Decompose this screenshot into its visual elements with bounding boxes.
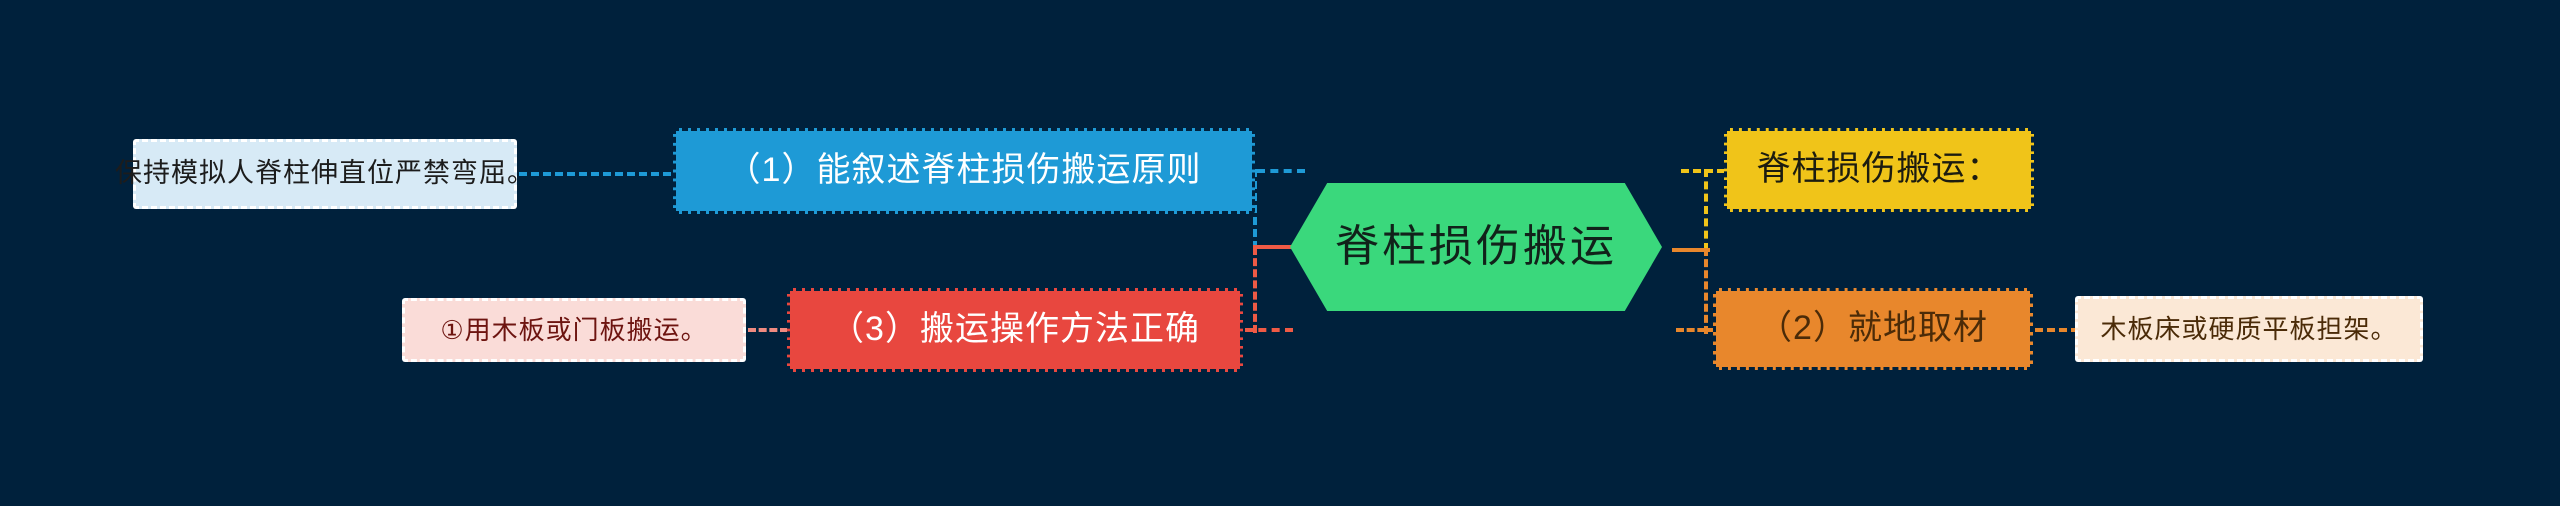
node-label: 脊柱损伤搬运： [1757, 151, 2002, 188]
connector-right-lower-trunk [1704, 248, 1708, 334]
connector-right-upper-trunk [1704, 169, 1708, 251]
connector-note-spine-to-principle [519, 172, 671, 176]
node-topic-correct-operation[interactable]: （3）搬运操作方法正确 [787, 288, 1243, 372]
node-label: 脊柱损伤搬运 [1335, 223, 1617, 271]
node-note-keep-spine-straight[interactable]: 保持模拟人脊柱伸直位严禁弯屈。 [133, 139, 517, 209]
node-topic-transport-heading[interactable]: 脊柱损伤搬运： [1724, 128, 2034, 212]
node-topic-transport-principle[interactable]: （1）能叙述脊柱损伤搬运原则 [673, 128, 1255, 214]
connector-trunk-to-transport-title [1681, 169, 1725, 173]
node-note-hard-board-stretcher[interactable]: 木板床或硬质平板担架。 [2075, 296, 2423, 362]
connector-left-lower-trunk [1253, 247, 1257, 333]
node-topic-local-material[interactable]: （2）就地取材 [1713, 288, 2033, 370]
connector-principle-to-trunk [1257, 169, 1305, 173]
node-label: 木板床或硬质平板担架。 [2100, 315, 2397, 344]
connector-operation-to-trunk [1245, 328, 1293, 332]
node-label: （1）能叙述脊柱损伤搬运原则 [727, 152, 1202, 189]
connector-local-material-stub [1676, 328, 1716, 332]
node-note-use-wooden-board[interactable]: ①用木板或门板搬运。 [402, 298, 746, 362]
node-label: 保持模拟人脊柱伸直位严禁弯屈。 [115, 159, 535, 189]
node-label: （3）搬运操作方法正确 [830, 311, 1200, 348]
mindmap-canvas: 保持模拟人脊柱伸直位严禁弯屈。 （1）能叙述脊柱损伤搬运原则 脊柱损伤搬运 脊柱… [0, 0, 2560, 506]
node-label: ①用木板或门板搬运。 [440, 316, 707, 345]
connector-local-material-to-note [2035, 328, 2079, 332]
node-label: （2）就地取材 [1758, 310, 1988, 347]
node-central-spinal-injury-transport[interactable]: 脊柱损伤搬运 [1290, 183, 1662, 311]
connector-note-board-to-operation [748, 328, 788, 332]
